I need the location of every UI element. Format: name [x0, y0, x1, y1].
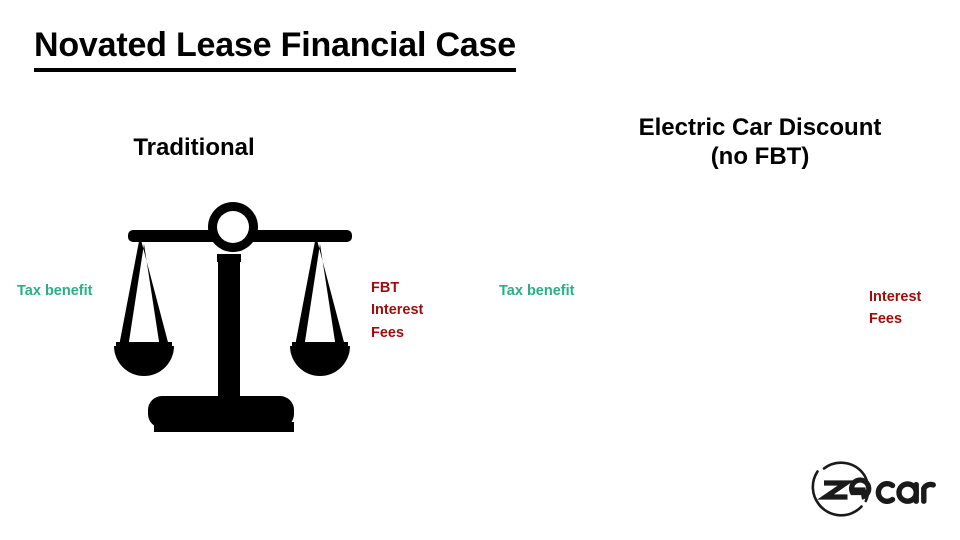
label-text-interest: Interest — [869, 286, 921, 308]
panel-electric-heading-line2: (no FBT) — [711, 143, 810, 170]
panel-electric-heading-line1: Electric Car Discount — [639, 114, 882, 141]
label-text-interest: Interest — [371, 299, 423, 321]
label-electric-tax-benefit: Tax benefit — [499, 280, 574, 302]
balance-scale-balanced — [110, 196, 370, 441]
label-text-fees: Fees — [371, 322, 423, 344]
label-text: Tax benefit — [17, 280, 92, 302]
label-text-fbt: FBT — [371, 277, 423, 299]
zecar-logo — [808, 457, 940, 519]
label-traditional-tax-benefit: Tax benefit — [17, 280, 92, 302]
label-text: Tax benefit — [499, 280, 574, 302]
panel-traditional-heading: Traditional — [0, 133, 434, 162]
label-electric-costs: Interest Fees — [869, 286, 921, 331]
panel-traditional-heading-text: Traditional — [133, 134, 254, 161]
slide-canvas: Novated Lease Financial Case Traditional — [0, 0, 960, 540]
panel-electric-heading: Electric Car Discount (no FBT) — [520, 113, 960, 172]
panel-traditional: Traditional — [0, 0, 480, 540]
label-traditional-costs: FBT Interest Fees — [371, 277, 423, 344]
label-text-fees: Fees — [869, 308, 921, 330]
